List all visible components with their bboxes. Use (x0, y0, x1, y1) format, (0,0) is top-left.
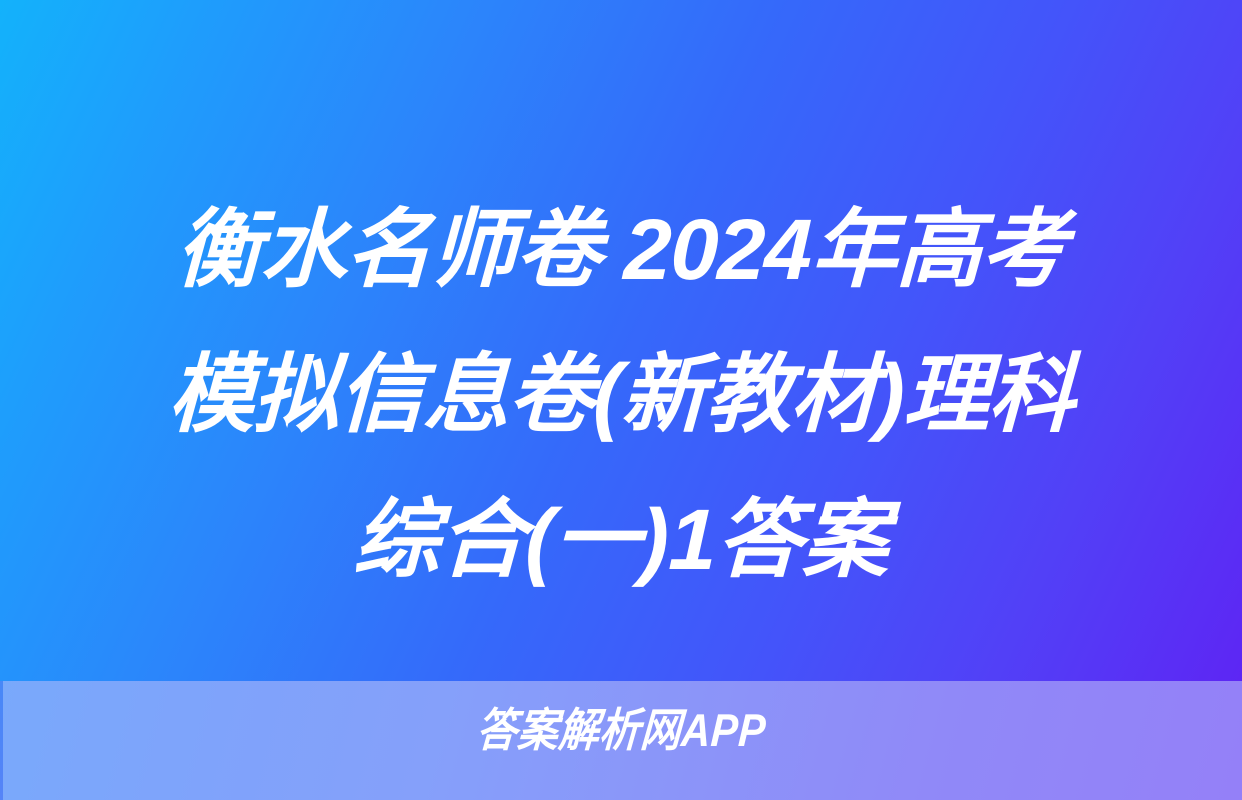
page-title-line-3: 综合(一)1答案 (0, 468, 1242, 613)
page-title-line-2: 模拟信息卷(新教材)理科 (0, 323, 1242, 468)
poster-canvas: 衡水名师卷 2024年高考 模拟信息卷(新教材)理科 综合(一)1答案 答案解析… (0, 0, 1242, 800)
app-watermark: 答案解析网APP (0, 702, 1242, 758)
page-title: 衡水名师卷 2024年高考 模拟信息卷(新教材)理科 综合(一)1答案 (0, 178, 1242, 613)
app-watermark-label: 答案解析网APP (475, 702, 768, 758)
page-title-line-1: 衡水名师卷 2024年高考 (0, 178, 1242, 323)
